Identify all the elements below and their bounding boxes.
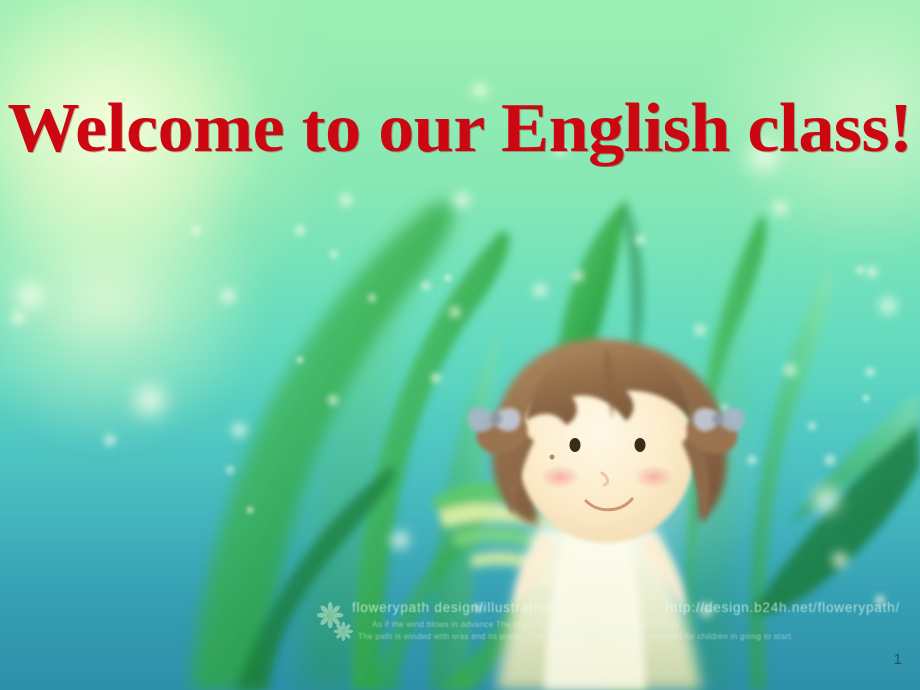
page-number: 1 bbox=[894, 651, 902, 668]
slide-canvas: Welcome to our English class! bbox=[0, 0, 920, 690]
page-title: Welcome to our English class! bbox=[0, 92, 920, 166]
cartoon-girl-illustration bbox=[440, 325, 760, 690]
